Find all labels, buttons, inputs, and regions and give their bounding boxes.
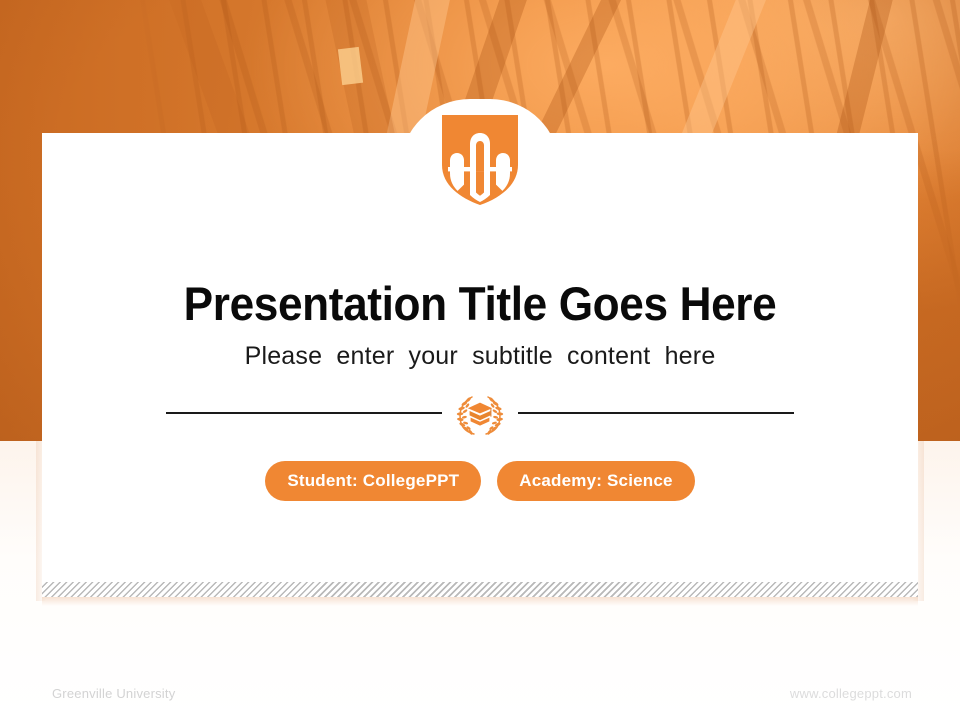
footer-university-name: Greenville University [52, 686, 175, 701]
divider-row [0, 390, 960, 436]
pill-button-row: Student: CollegePPT Academy: Science [0, 461, 960, 501]
pill-button-academy[interactable]: Academy: Science [497, 461, 694, 501]
presentation-slide: Presentation Title Goes Here Please ente… [0, 0, 960, 720]
footer-website-url[interactable]: www.collegeppt.com [790, 686, 912, 701]
slide-subtitle: Please enter your subtitle content here [0, 340, 960, 372]
university-shield-icon [440, 113, 520, 207]
divider-rule-right [518, 412, 794, 414]
card-bottom-hatch-strip [42, 581, 918, 597]
slide-title: Presentation Title Goes Here [29, 276, 931, 332]
pill-button-student[interactable]: Student: CollegePPT [265, 461, 481, 501]
divider-rule-left [166, 412, 442, 414]
laurel-graduation-cap-icon [446, 390, 514, 436]
card-bottom-shadow [42, 597, 918, 606]
